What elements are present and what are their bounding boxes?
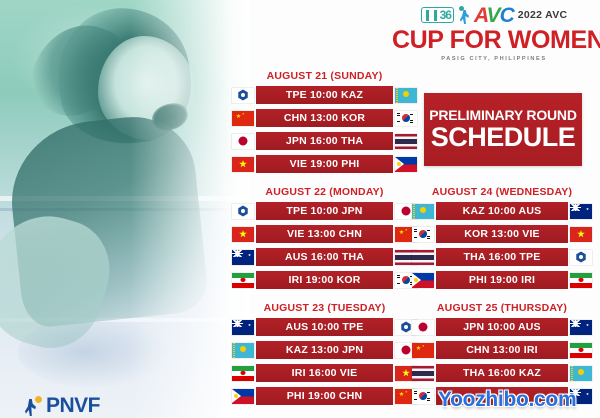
match-label: JPN 16:00 THA [256,132,393,150]
match-label: KAZ 10:00 AUS [436,202,568,220]
flag-kaz-icon [232,343,254,358]
match-label: VIE 19:00 PHI [256,155,393,173]
flag-tha-icon [412,250,434,265]
flag-vie-icon [232,157,254,172]
flag-tha-icon [395,134,417,149]
match-row[interactable]: PHI 19:00 CHN [232,387,417,405]
day-block-aug-21: AUGUST 21 (SUNDAY) TPE 10:00 KAZ CHN 13:… [232,70,417,178]
match-label: KOR 13:00 VIE [436,225,568,243]
flag-kor-icon [412,227,434,242]
flag-tpe-icon [232,88,254,103]
flag-tha-icon [412,366,434,381]
flag-kaz-icon [395,88,417,103]
flag-aus-icon [570,204,592,219]
match-row[interactable]: VIE 13:00 CHN [232,225,417,243]
volleyball-player-icon [24,396,42,416]
edition-number: 36 [440,9,451,21]
match-row[interactable]: KAZ 13:00 JPN [232,341,417,359]
match-label: PHI 19:00 CHN [256,387,393,405]
match-row[interactable]: JPN 16:00 THA [232,132,417,150]
day-title: AUGUST 21 (SUNDAY) [232,70,417,82]
match-label: VIE 13:00 CHN [256,225,393,243]
match-label: CHN 13:00 KOR [256,109,393,127]
match-row[interactable]: IRI 19:00 KOR [232,271,417,289]
match-label: TPE 10:00 JPN [256,202,393,220]
prelim-line-1: PRELIMINARY ROUND [429,108,577,122]
athlete-photo [0,0,250,418]
match-row[interactable]: PHI 19:00 IRI [412,271,592,289]
match-label: CHN 13:00 IRI [436,341,568,359]
preliminary-round-banner: PRELIMINARY ROUND SCHEDULE [424,93,582,166]
header-logos: 36 AVC 2022 AVC [392,4,596,26]
flag-vie-icon [232,227,254,242]
flag-iri-icon [232,273,254,288]
match-row[interactable]: AUS 16:00 THA [232,248,417,266]
avc-player-icon [458,6,470,24]
flag-aus-icon [570,320,592,335]
match-row[interactable]: THA 16:00 TPE [412,248,592,266]
site-watermark: Yoozhibo.com [438,388,576,412]
flag-chn-icon [232,111,254,126]
match-row[interactable]: AUS 10:00 TPE [232,318,417,336]
photo-fade-overlay [0,0,250,418]
flag-iri-icon [232,366,254,381]
match-row[interactable]: TPE 10:00 KAZ [232,86,417,104]
flag-jpn-icon [232,134,254,149]
avc-letter-c: C [500,4,514,27]
day-title: AUGUST 25 (THURSDAY) [412,302,592,314]
pnvf-logo: PNVF [24,396,100,416]
poster-header: 36 AVC 2022 AVC CUP FOR WOMEN PASIG CITY… [392,4,596,68]
match-row[interactable]: IRI 16:00 VIE [232,364,417,382]
match-label: JPN 10:00 AUS [436,318,568,336]
flag-kaz-icon [412,204,434,219]
match-row[interactable]: THA 16:00 KAZ [412,364,592,382]
day-block-aug-22: AUGUST 22 (MONDAY) TPE 10:00 JPN VIE 13:… [232,186,417,294]
flag-phi-icon [232,389,254,404]
match-row[interactable]: KAZ 10:00 AUS [412,202,592,220]
day-title: AUGUST 24 (WEDNESDAY) [412,186,592,198]
flag-vie-icon [570,227,592,242]
flag-iri-icon [570,273,592,288]
day-title: AUGUST 22 (MONDAY) [232,186,417,198]
avc-letter-v: V [487,4,500,27]
match-row[interactable]: CHN 13:00 IRI [412,341,592,359]
flag-kor-icon [395,111,417,126]
day-block-aug-24: AUGUST 24 (WEDNESDAY) KAZ 10:00 AUS KOR … [412,186,592,294]
match-row[interactable]: CHN 13:00 KOR [232,109,417,127]
flag-aus-icon [232,250,254,265]
match-label: IRI 19:00 KOR [256,271,393,289]
match-label: THA 16:00 TPE [436,248,568,266]
year-label: 2022 AVC [518,9,568,21]
match-row[interactable]: TPE 10:00 JPN [232,202,417,220]
match-row[interactable]: JPN 10:00 AUS [412,318,592,336]
flag-tpe-icon [570,250,592,265]
flag-kaz-icon [570,366,592,381]
flag-phi-icon [395,157,417,172]
flag-kor-icon [412,389,434,404]
day-title: AUGUST 23 (TUESDAY) [232,302,417,314]
venue-label: PASIG CITY, PHILIPPINES [392,56,596,62]
match-row[interactable]: VIE 19:00 PHI [232,155,417,173]
pnvf-label: PNVF [46,397,100,416]
flag-chn-icon [412,343,434,358]
match-label: KAZ 13:00 JPN [256,341,393,359]
page-title: CUP FOR WOMEN [392,28,596,54]
flag-jpn-icon [412,320,434,335]
match-label: TPE 10:00 KAZ [256,86,393,104]
flag-iri-icon [570,343,592,358]
match-label: THA 16:00 KAZ [436,364,568,382]
match-label: PHI 19:00 IRI [436,271,568,289]
edition-36-logo: 36 [421,7,454,23]
match-row[interactable]: KOR 13:00 VIE [412,225,592,243]
match-label: AUS 16:00 THA [256,248,393,266]
day-block-aug-23: AUGUST 23 (TUESDAY) AUS 10:00 TPE KAZ 13… [232,302,417,410]
avc-wordmark: AVC [474,5,514,26]
match-label: AUS 10:00 TPE [256,318,393,336]
flag-tpe-icon [232,204,254,219]
prelim-line-2: SCHEDULE [431,123,576,151]
avc-letter-a: A [474,4,487,27]
flag-aus-icon [232,320,254,335]
flag-phi-icon [412,273,434,288]
match-label: IRI 16:00 VIE [256,364,393,382]
tournament-schedule-poster: PNVF 36 AVC 2022 AVC CUP FOR WOMEN PASIG… [0,0,600,418]
